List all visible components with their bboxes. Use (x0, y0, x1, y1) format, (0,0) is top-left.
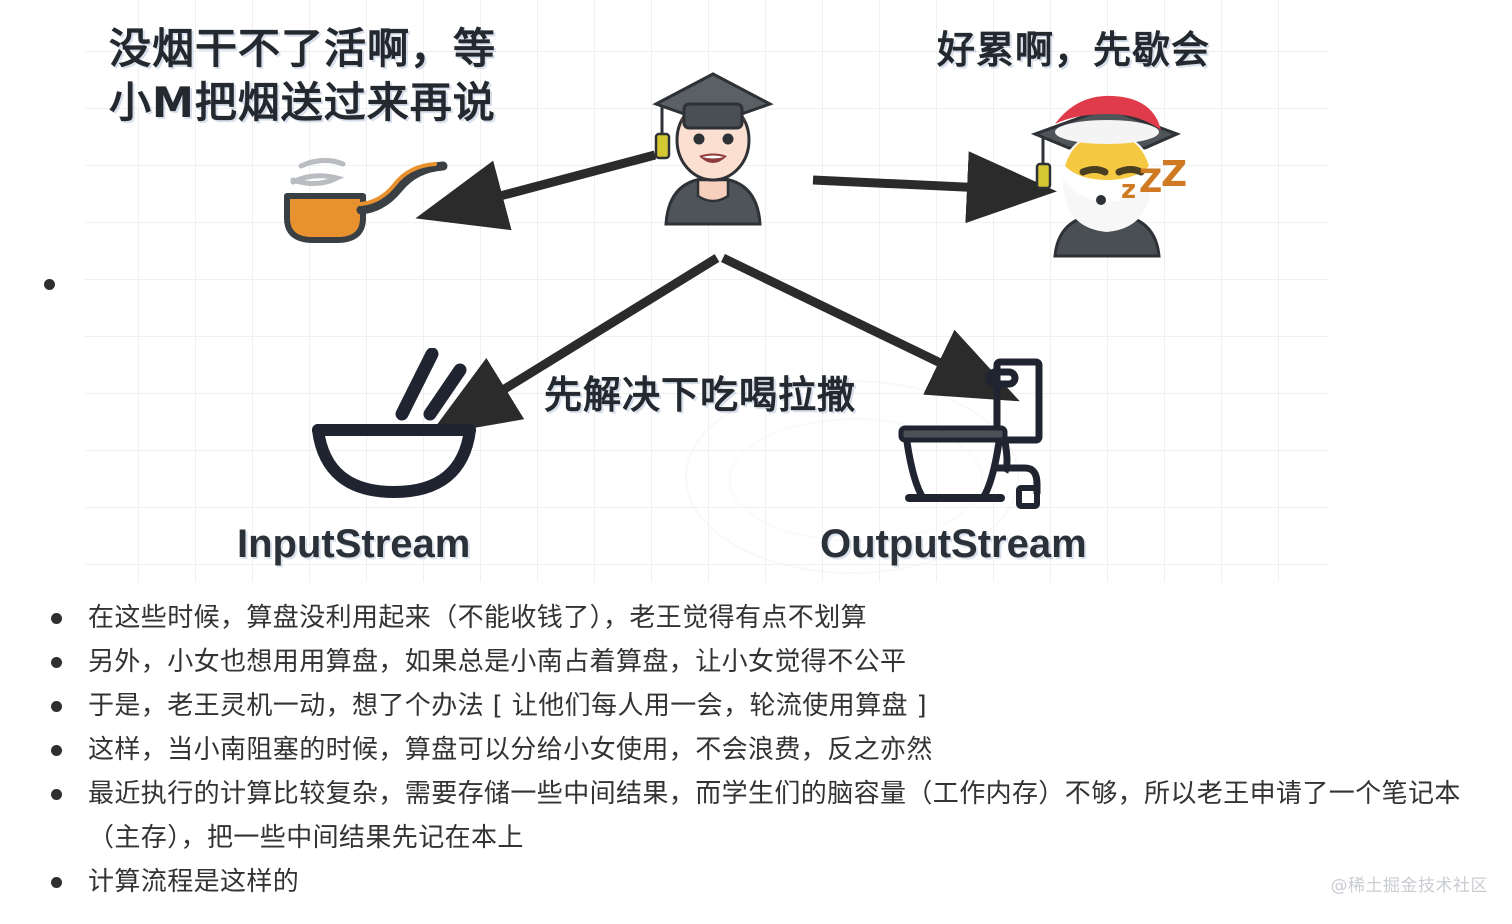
bullet-dot (51, 877, 62, 888)
svg-text:z: z (1121, 175, 1136, 205)
bullet-dot (51, 701, 62, 712)
list-item: 最近执行的计算比较复杂，需要存储一些中间结果，而学生们的脑容量（工作内存）不够，… (0, 772, 1512, 860)
toilet-icon (893, 350, 1053, 520)
image-list-bullet (44, 279, 55, 290)
list-item-text: 于是，老王灵机一动，想了个办法 [ 让他们每人用一会，轮流使用算盘 ] (88, 684, 1512, 728)
list-item-text: 另外，小女也想用用算盘，如果总是小南占着算盘，让小女觉得不公平 (88, 640, 1512, 684)
list-item: 这样，当小南阻塞的时候，算盘可以分给小女使用，不会浪费，反之亦然 (0, 728, 1512, 772)
diagram-text-left: 没烟干不了活啊，等 小M把烟送过来再说 (109, 22, 496, 130)
diagram-text-right: 好累啊，先歇会 (937, 26, 1210, 75)
sleeping-graduate-emoji: z Z Z (1025, 80, 1195, 270)
graduate-emoji (646, 48, 781, 248)
list-item-text: 在这些时候，算盘没利用起来（不能收钱了），老王觉得有点不划算 (88, 596, 1512, 640)
diagram-text-middle: 先解决下吃喝拉撒 (544, 371, 856, 420)
bullet-dot (51, 657, 62, 668)
bullet-dot (51, 745, 62, 756)
list-item: 于是，老王灵机一动，想了个办法 [ 让他们每人用一会，轮流使用算盘 ] (0, 684, 1512, 728)
list-item-text: 计算流程是这样的 (88, 860, 1512, 904)
svg-text:Z: Z (1139, 162, 1162, 200)
svg-text:Z: Z (1161, 154, 1187, 195)
rice-bowl-icon (310, 348, 490, 503)
list-item: 计算流程是这样的 (0, 860, 1512, 904)
smoking-pipe-icon (275, 148, 455, 248)
content-bullet-list: 在这些时候，算盘没利用起来（不能收钱了），老王觉得有点不划算 另外，小女也想用用… (0, 596, 1512, 904)
diagram-figure: z Z Z 没烟干不了活啊，等 小M把烟送过来再说 好累啊，先歇会 先解决下吃喝… (85, 0, 1328, 582)
list-item-text: 最近执行的计算比较复杂，需要存储一些中间结果，而学生们的脑容量（工作内存）不够，… (88, 772, 1512, 860)
site-watermark: @稀土掘金技术社区 (1331, 871, 1489, 896)
output-stream-label: OutputStream (820, 522, 1087, 567)
input-stream-label: InputStream (237, 522, 470, 567)
list-item-text: 这样，当小南阻塞的时候，算盘可以分给小女使用，不会浪费，反之亦然 (88, 728, 1512, 772)
bullet-dot (51, 789, 62, 800)
bullet-dot (51, 613, 62, 624)
list-item: 在这些时候，算盘没利用起来（不能收钱了），老王觉得有点不划算 (0, 596, 1512, 640)
list-item: 另外，小女也想用用算盘，如果总是小南占着算盘，让小女觉得不公平 (0, 640, 1512, 684)
